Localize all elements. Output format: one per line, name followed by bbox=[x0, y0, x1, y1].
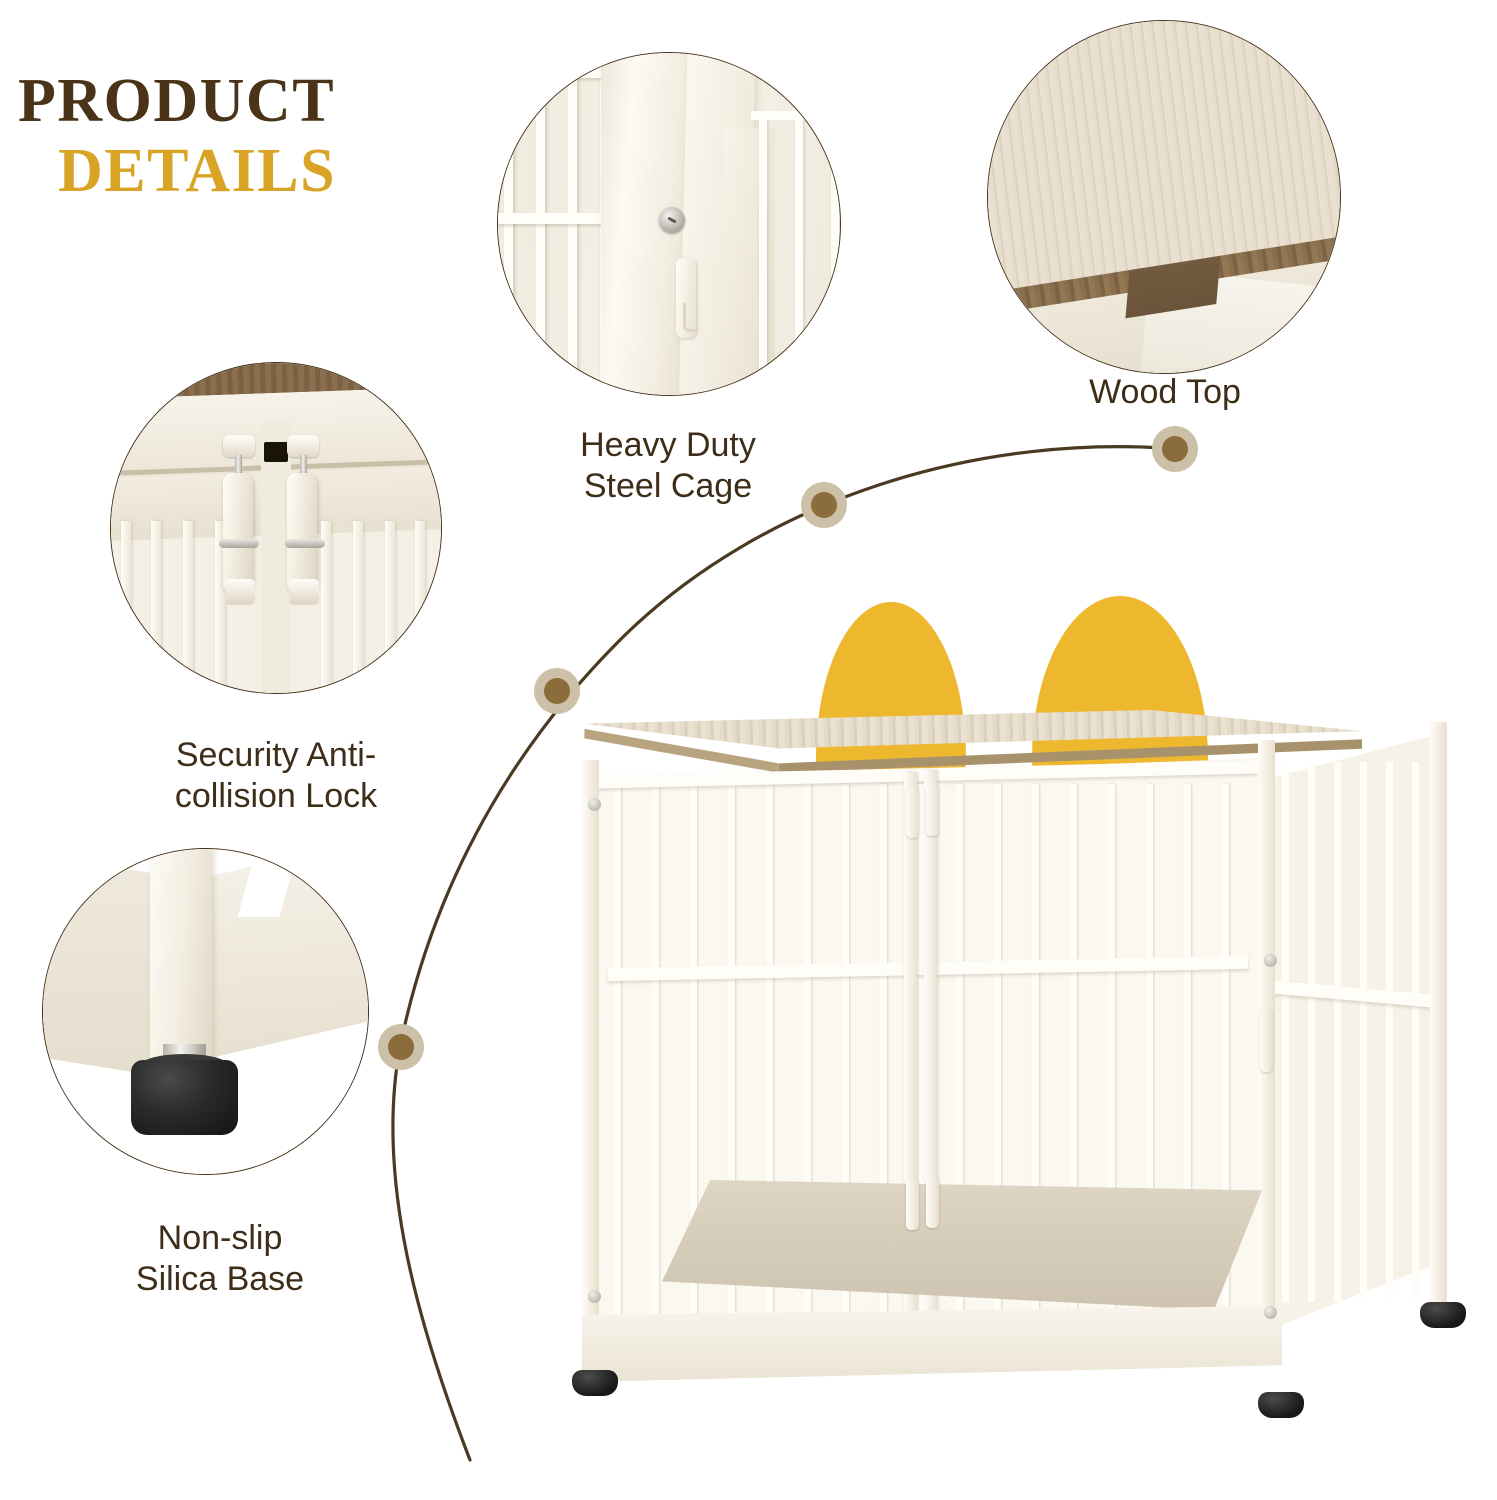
detail-circle-wood-top bbox=[987, 20, 1341, 374]
crate-base-rail bbox=[582, 1306, 1282, 1382]
screw-icon bbox=[659, 207, 685, 233]
detail-circle-heavy-duty-steel-cage bbox=[497, 52, 841, 396]
crate-back-right-post bbox=[1430, 722, 1447, 1312]
label-non-slip-silica-base: Non-slip Silica Base bbox=[55, 1218, 385, 1301]
screw-icon-bottom bbox=[1264, 1306, 1277, 1319]
detail-circle-non-slip-silica-base bbox=[42, 848, 369, 1175]
page-title-line2: DETAILS bbox=[58, 142, 458, 202]
side-bars bbox=[1278, 762, 1440, 1302]
screw-icon-left bbox=[588, 798, 601, 811]
label-line1: Wood Top bbox=[1000, 372, 1330, 413]
page-title: PRODUCT DETAILS bbox=[18, 72, 458, 201]
crate-foot-front-right bbox=[1258, 1392, 1304, 1418]
door-latch-bottom-right[interactable] bbox=[926, 1176, 939, 1228]
label-line1: Non-slip bbox=[55, 1218, 385, 1259]
product-details-infographic: PRODUCT DETAILS Heavy Duty Steel Cage bbox=[0, 0, 1497, 1500]
connector-dot-silica-base bbox=[378, 1024, 424, 1070]
label-line1: Security Anti- bbox=[86, 735, 466, 776]
crate-left-corner-post bbox=[582, 760, 599, 1358]
label-wood-top: Wood Top bbox=[1000, 372, 1330, 413]
door-latch-bottom-left[interactable] bbox=[906, 1178, 919, 1230]
label-line2: Silica Base bbox=[55, 1259, 385, 1300]
crate-foot-front-left bbox=[572, 1370, 618, 1396]
detail-circle-security-anti-collision-lock bbox=[110, 362, 442, 694]
label-security-anti-collision-lock: Security Anti- collision Lock bbox=[86, 735, 466, 818]
label-line1: Heavy Duty bbox=[490, 425, 846, 466]
connector-dot-steel-cage bbox=[801, 482, 847, 528]
door-latch-top-right[interactable] bbox=[926, 784, 939, 836]
crate-foot-back-right bbox=[1420, 1302, 1466, 1328]
page-title-line1: PRODUCT bbox=[18, 72, 458, 132]
side-door-latch[interactable] bbox=[1260, 1010, 1273, 1072]
product-image bbox=[520, 560, 1490, 1500]
door-latch-top-left[interactable] bbox=[906, 786, 919, 838]
label-line2: Steel Cage bbox=[490, 466, 846, 507]
dog-crate bbox=[542, 710, 1442, 1420]
screw-icon-low bbox=[588, 1290, 601, 1303]
label-heavy-duty-steel-cage: Heavy Duty Steel Cage bbox=[490, 425, 846, 508]
label-line2: collision Lock bbox=[86, 776, 466, 817]
connector-dot-wood-top bbox=[1152, 426, 1198, 472]
screw-icon-right bbox=[1264, 954, 1277, 967]
